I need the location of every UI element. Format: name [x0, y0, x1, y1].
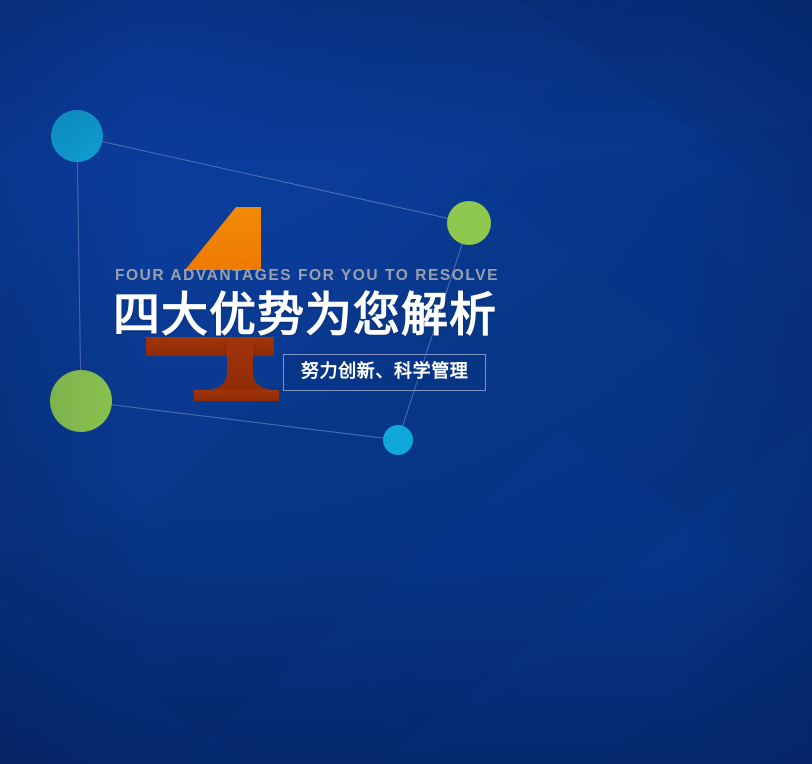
- edge-topleft-bottomleft: [77, 136, 81, 401]
- banner-subtitle-box: 努力创新、科学管理: [283, 354, 486, 391]
- node-top-right: [447, 201, 491, 245]
- node-bottom-right: [383, 425, 413, 455]
- node-bottom-left: [50, 370, 112, 432]
- banner-subtitle-wrap: 努力创新、科学管理: [283, 354, 673, 391]
- banner-copy: FOUR ADVANTAGES FOR YOU TO RESOLVE 四大优势为…: [113, 268, 673, 391]
- node-top-left: [51, 110, 103, 162]
- edge-topleft-topright: [77, 136, 469, 223]
- banner-canvas: FOUR ADVANTAGES FOR YOU TO RESOLVE 四大优势为…: [0, 0, 812, 764]
- banner-kicker: FOUR ADVANTAGES FOR YOU TO RESOLVE: [115, 268, 673, 284]
- edge-bottomleft-bottomright: [81, 401, 398, 440]
- banner-headline: 四大优势为您解析: [113, 290, 673, 341]
